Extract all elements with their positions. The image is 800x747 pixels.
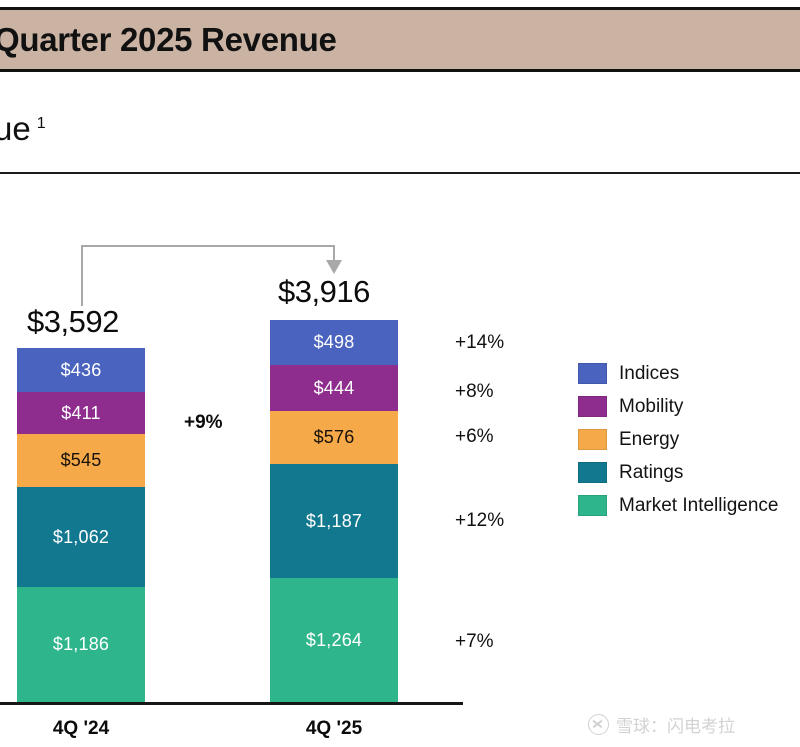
segment-energy-4q24[interactable]: $545 bbox=[17, 434, 145, 487]
segment-market-intelligence-4q25[interactable]: $1,264 bbox=[270, 578, 398, 702]
legend-item-ratings[interactable]: Ratings bbox=[578, 456, 778, 489]
legend-swatch-indices-icon bbox=[578, 363, 607, 384]
stacked-bar-chart: +9% $3,592 $3,916 $436 $411 $545 $1,062 … bbox=[0, 180, 800, 747]
legend-item-mobility[interactable]: Mobility bbox=[578, 390, 778, 423]
legend-swatch-energy-icon bbox=[578, 429, 607, 450]
legend-swatch-market-intelligence-icon bbox=[578, 495, 607, 516]
segment-indices-4q25[interactable]: $498 bbox=[270, 320, 398, 365]
segment-value-label: $1,264 bbox=[306, 630, 362, 651]
segment-mobility-4q25[interactable]: $444 bbox=[270, 365, 398, 411]
circle-x-icon bbox=[588, 714, 609, 735]
section-title: ue1 bbox=[0, 110, 46, 148]
growth-label-ratings: +12% bbox=[455, 510, 504, 532]
bar-total-4q24: $3,592 bbox=[27, 304, 119, 340]
section-title-text: ue bbox=[0, 110, 31, 147]
growth-label-mobility: +8% bbox=[455, 381, 494, 403]
legend-item-market-intelligence[interactable]: Market Intelligence bbox=[578, 489, 778, 522]
segment-ratings-4q25[interactable]: $1,187 bbox=[270, 464, 398, 578]
segment-value-label: $498 bbox=[314, 332, 355, 353]
legend-label: Energy bbox=[619, 429, 679, 451]
growth-label-indices: +14% bbox=[455, 332, 504, 354]
segment-energy-4q25[interactable]: $576 bbox=[270, 411, 398, 464]
bar-4q24[interactable]: $436 $411 $545 $1,062 $1,186 bbox=[17, 348, 145, 702]
growth-label-energy: +6% bbox=[455, 426, 494, 448]
bar-total-4q25: $3,916 bbox=[278, 274, 370, 310]
x-axis-label-4q25: 4Q '25 bbox=[270, 718, 398, 740]
legend-swatch-mobility-icon bbox=[578, 396, 607, 417]
chart-legend: Indices Mobility Energy Ratings Market I… bbox=[578, 357, 778, 522]
total-growth-connector bbox=[0, 180, 470, 320]
segment-ratings-4q24[interactable]: $1,062 bbox=[17, 487, 145, 587]
watermark: 雪球：闪电考拉 bbox=[588, 712, 735, 737]
growth-label-market-intelligence: +7% bbox=[455, 631, 494, 653]
x-axis-line bbox=[0, 702, 463, 705]
segment-value-label: $545 bbox=[61, 450, 102, 471]
section-divider bbox=[0, 172, 800, 174]
footnote-marker: 1 bbox=[37, 115, 46, 132]
segment-market-intelligence-4q24[interactable]: $1,186 bbox=[17, 587, 145, 702]
x-axis-label-4q24: 4Q '24 bbox=[17, 718, 145, 740]
segment-indices-4q24[interactable]: $436 bbox=[17, 348, 145, 392]
segment-value-label: $1,187 bbox=[306, 511, 362, 532]
legend-label: Market Intelligence bbox=[619, 495, 778, 517]
legend-item-indices[interactable]: Indices bbox=[578, 357, 778, 390]
bar-4q25[interactable]: $498 $444 $576 $1,187 $1,264 bbox=[270, 320, 398, 702]
segment-value-label: $444 bbox=[314, 378, 355, 399]
slide-header-band: Quarter 2025 Revenue bbox=[0, 7, 800, 72]
segment-mobility-4q24[interactable]: $411 bbox=[17, 392, 145, 434]
legend-label: Mobility bbox=[619, 396, 683, 418]
segment-value-label: $411 bbox=[61, 403, 101, 424]
total-growth-label: +9% bbox=[178, 412, 229, 434]
legend-swatch-ratings-icon bbox=[578, 462, 607, 483]
page-title: Quarter 2025 Revenue bbox=[0, 21, 337, 59]
segment-value-label: $1,062 bbox=[53, 527, 109, 548]
segment-value-label: $576 bbox=[314, 427, 355, 448]
legend-label: Indices bbox=[619, 363, 679, 385]
watermark-text: 雪球：闪电考拉 bbox=[616, 712, 735, 737]
segment-value-label: $1,186 bbox=[53, 634, 109, 655]
legend-label: Ratings bbox=[619, 462, 683, 484]
segment-value-label: $436 bbox=[61, 360, 102, 381]
legend-item-energy[interactable]: Energy bbox=[578, 423, 778, 456]
